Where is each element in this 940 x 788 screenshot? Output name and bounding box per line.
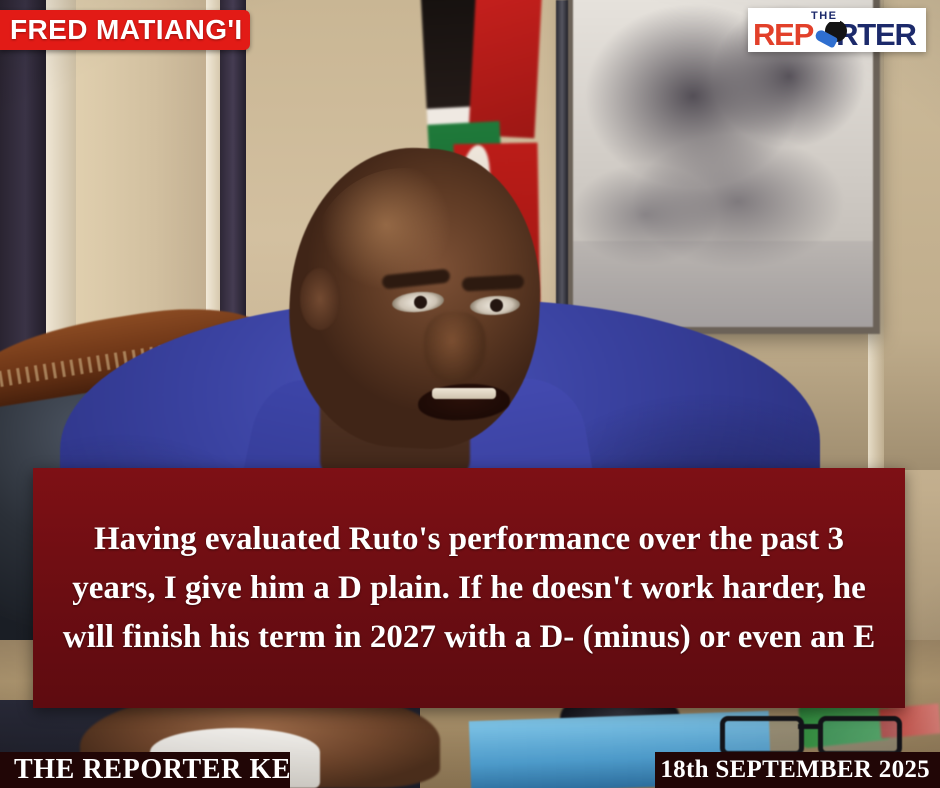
eyeglasses-lens-left xyxy=(720,716,804,756)
logo-wordmark-rter: RTER xyxy=(836,17,916,52)
logo-wordmark-rep: REP xyxy=(753,17,813,52)
logo-the-label: THE xyxy=(809,10,840,22)
publisher-logo: THE REPORTER xyxy=(748,8,926,52)
flag-red-band-upper xyxy=(468,0,542,138)
subject-ear xyxy=(300,268,340,330)
subject-teeth xyxy=(432,388,496,399)
quote-graphic-poster: FRED MATIANG'I THE REPORTER Having evalu… xyxy=(0,0,940,788)
flag-pole xyxy=(556,0,568,330)
microphone-icon xyxy=(817,20,847,50)
publisher-logo-inner: THE REPORTER xyxy=(753,10,921,50)
quote-text: Having evaluated Ruto's performance over… xyxy=(33,515,905,662)
subject-name-banner: FRED MATIANG'I xyxy=(0,10,250,50)
eyeglasses-bridge xyxy=(798,724,820,729)
footer-outlet-label: THE REPORTER KE xyxy=(14,754,291,786)
quote-box: Having evaluated Ruto's performance over… xyxy=(33,468,905,708)
footer-date-bar: 18th SEPTEMBER 2025 xyxy=(655,752,940,788)
subject-name-label: FRED MATIANG'I xyxy=(10,14,243,46)
eyeglasses-lens-right xyxy=(818,716,902,756)
footer-outlet-bar: THE REPORTER KE xyxy=(0,752,290,788)
footer-date-label: 18th SEPTEMBER 2025 xyxy=(660,756,930,784)
eyeglasses-icon xyxy=(720,716,910,750)
subject-nose xyxy=(424,312,486,384)
